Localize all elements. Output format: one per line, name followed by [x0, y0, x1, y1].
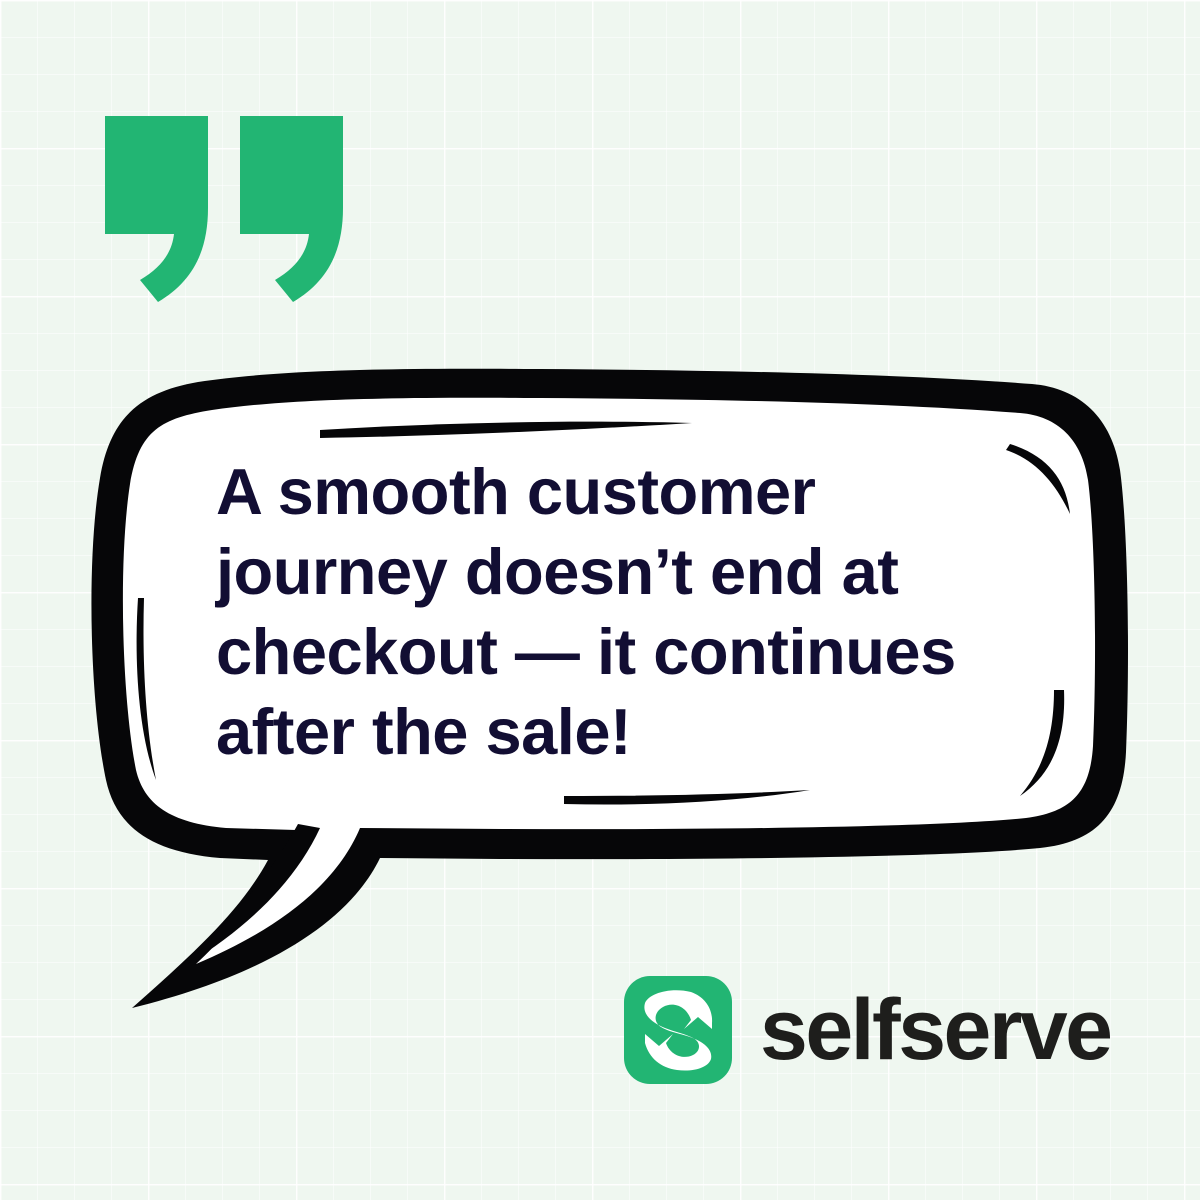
quote-mark-icon — [100, 112, 350, 307]
quote-text: A smooth customer journey doesn’t end at… — [216, 452, 1046, 772]
logo-lockup: selfserve — [624, 976, 1110, 1084]
quote-card: A smooth customer journey doesn’t end at… — [0, 0, 1200, 1200]
selfserve-logo-icon — [624, 976, 732, 1084]
selfserve-wordmark: selfserve — [760, 987, 1110, 1073]
